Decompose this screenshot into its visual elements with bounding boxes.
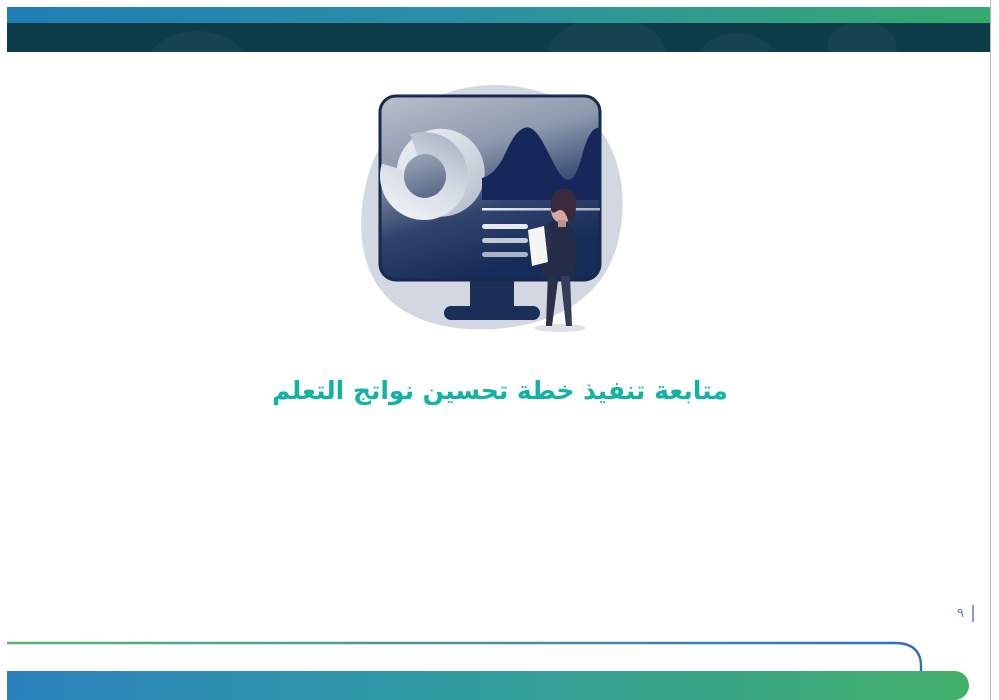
footer-thin-curve [7, 636, 942, 676]
slide-right-edge [990, 0, 991, 700]
header-decor-blob [697, 33, 777, 52]
header-gradient-bar [7, 7, 990, 23]
page-number-group: ٩ [957, 605, 974, 622]
header-decor-blob [147, 31, 247, 52]
page-title: متابعة تنفيذ خطة تحسين نواتج التعلم [0, 373, 1000, 408]
page-number: ٩ [957, 607, 964, 620]
slide-header [7, 7, 990, 52]
slide-canvas: متابعة تنفيذ خطة تحسين نواتج التعلم ٩ [0, 0, 1000, 700]
header-dark-bar [7, 23, 990, 52]
dashboard-monitor-illustration [352, 84, 632, 340]
footer-gradient-bar [7, 671, 969, 700]
header-decor-blob [827, 23, 897, 52]
page-number-divider [972, 605, 974, 622]
header-decor-blob [547, 23, 667, 52]
